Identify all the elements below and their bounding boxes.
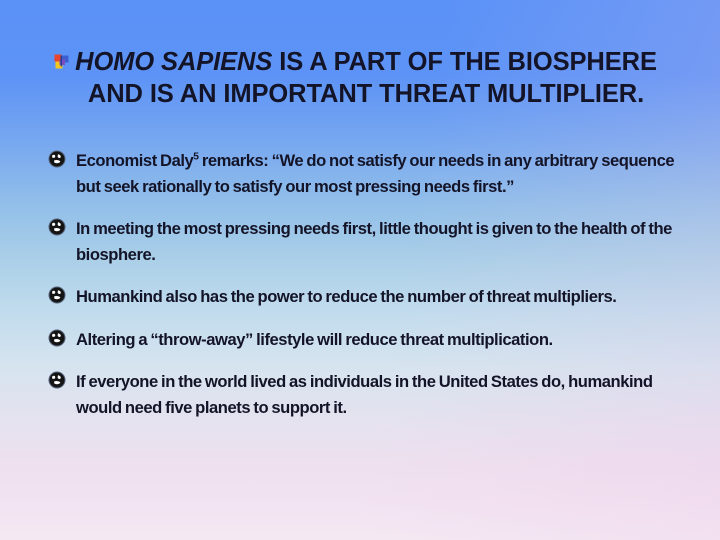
globe-icon xyxy=(48,286,66,304)
slide-title-text: HOMO SAPIENS IS A PART OF THE BIOSPHERE … xyxy=(46,46,686,110)
globe-icon xyxy=(48,329,66,347)
globe-icon xyxy=(48,218,66,236)
list-item-text: In meeting the most pressing needs first… xyxy=(76,216,691,267)
list-item: Economist Daly5 remarks: “We do not sati… xyxy=(46,148,691,199)
list-item-text: Altering a “throw-away” lifestyle will r… xyxy=(76,327,691,353)
bullet-list: Economist Daly5 remarks: “We do not sati… xyxy=(46,148,691,420)
list-item-text: Economist Daly5 remarks: “We do not sati… xyxy=(76,148,691,199)
list-item: If everyone in the world lived as indivi… xyxy=(46,369,691,420)
globe-icon xyxy=(48,150,66,168)
list-item: Humankind also has the power to reduce t… xyxy=(46,284,691,310)
list-item: In meeting the most pressing needs first… xyxy=(46,216,691,267)
multicolor-square-icon xyxy=(54,54,69,69)
slide-title: HOMO SAPIENS IS A PART OF THE BIOSPHERE … xyxy=(46,46,686,110)
list-item: Altering a “throw-away” lifestyle will r… xyxy=(46,327,691,353)
slide-title-emphasis: HOMO SAPIENS xyxy=(75,48,272,76)
list-item-text: If everyone in the world lived as indivi… xyxy=(76,369,691,420)
list-item-text: Humankind also has the power to reduce t… xyxy=(76,284,691,310)
globe-icon xyxy=(48,371,66,389)
list-item-text-pre: Economist Daly xyxy=(76,151,193,170)
presentation-slide: HOMO SAPIENS IS A PART OF THE BIOSPHERE … xyxy=(0,0,720,540)
